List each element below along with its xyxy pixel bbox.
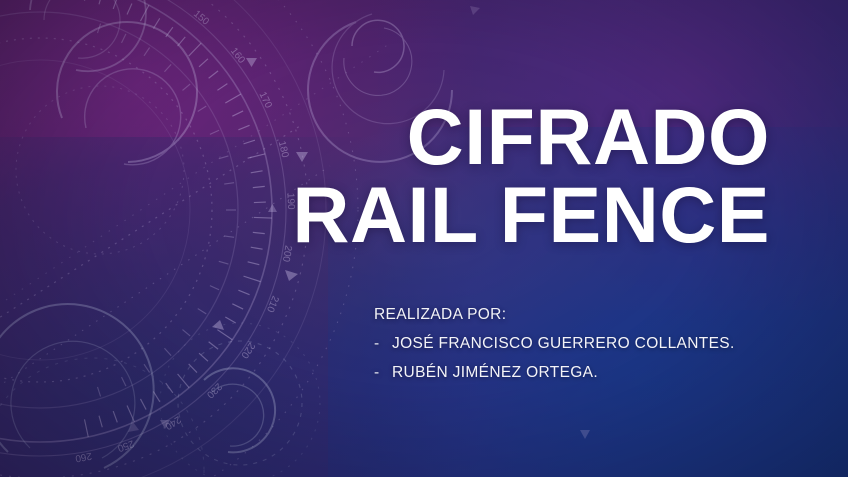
- author-name: RUBÉN JIMÉNEZ ORTEGA.: [392, 364, 598, 382]
- author-list-item: - JOSÉ FRANCISCO GUERRERO COLLANTES.: [374, 335, 794, 353]
- author-name: JOSÉ FRANCISCO GUERRERO COLLANTES.: [392, 335, 735, 353]
- author-list-item: - RUBÉN JIMÉNEZ ORTEGA.: [374, 364, 794, 382]
- title-line-1: CIFRADO: [120, 98, 770, 176]
- authors-lead-label: REALIZADA POR:: [374, 306, 794, 324]
- slide-title: CIFRADO RAIL FENCE: [120, 98, 770, 254]
- presentation-slide: 140 150 160 170 180 190 200 210 220 230 …: [0, 0, 848, 477]
- bullet-dash-icon: -: [374, 364, 392, 382]
- bullet-dash-icon: -: [374, 335, 392, 353]
- title-line-2: RAIL FENCE: [120, 176, 770, 254]
- slide-body: REALIZADA POR: - JOSÉ FRANCISCO GUERRERO…: [374, 306, 794, 393]
